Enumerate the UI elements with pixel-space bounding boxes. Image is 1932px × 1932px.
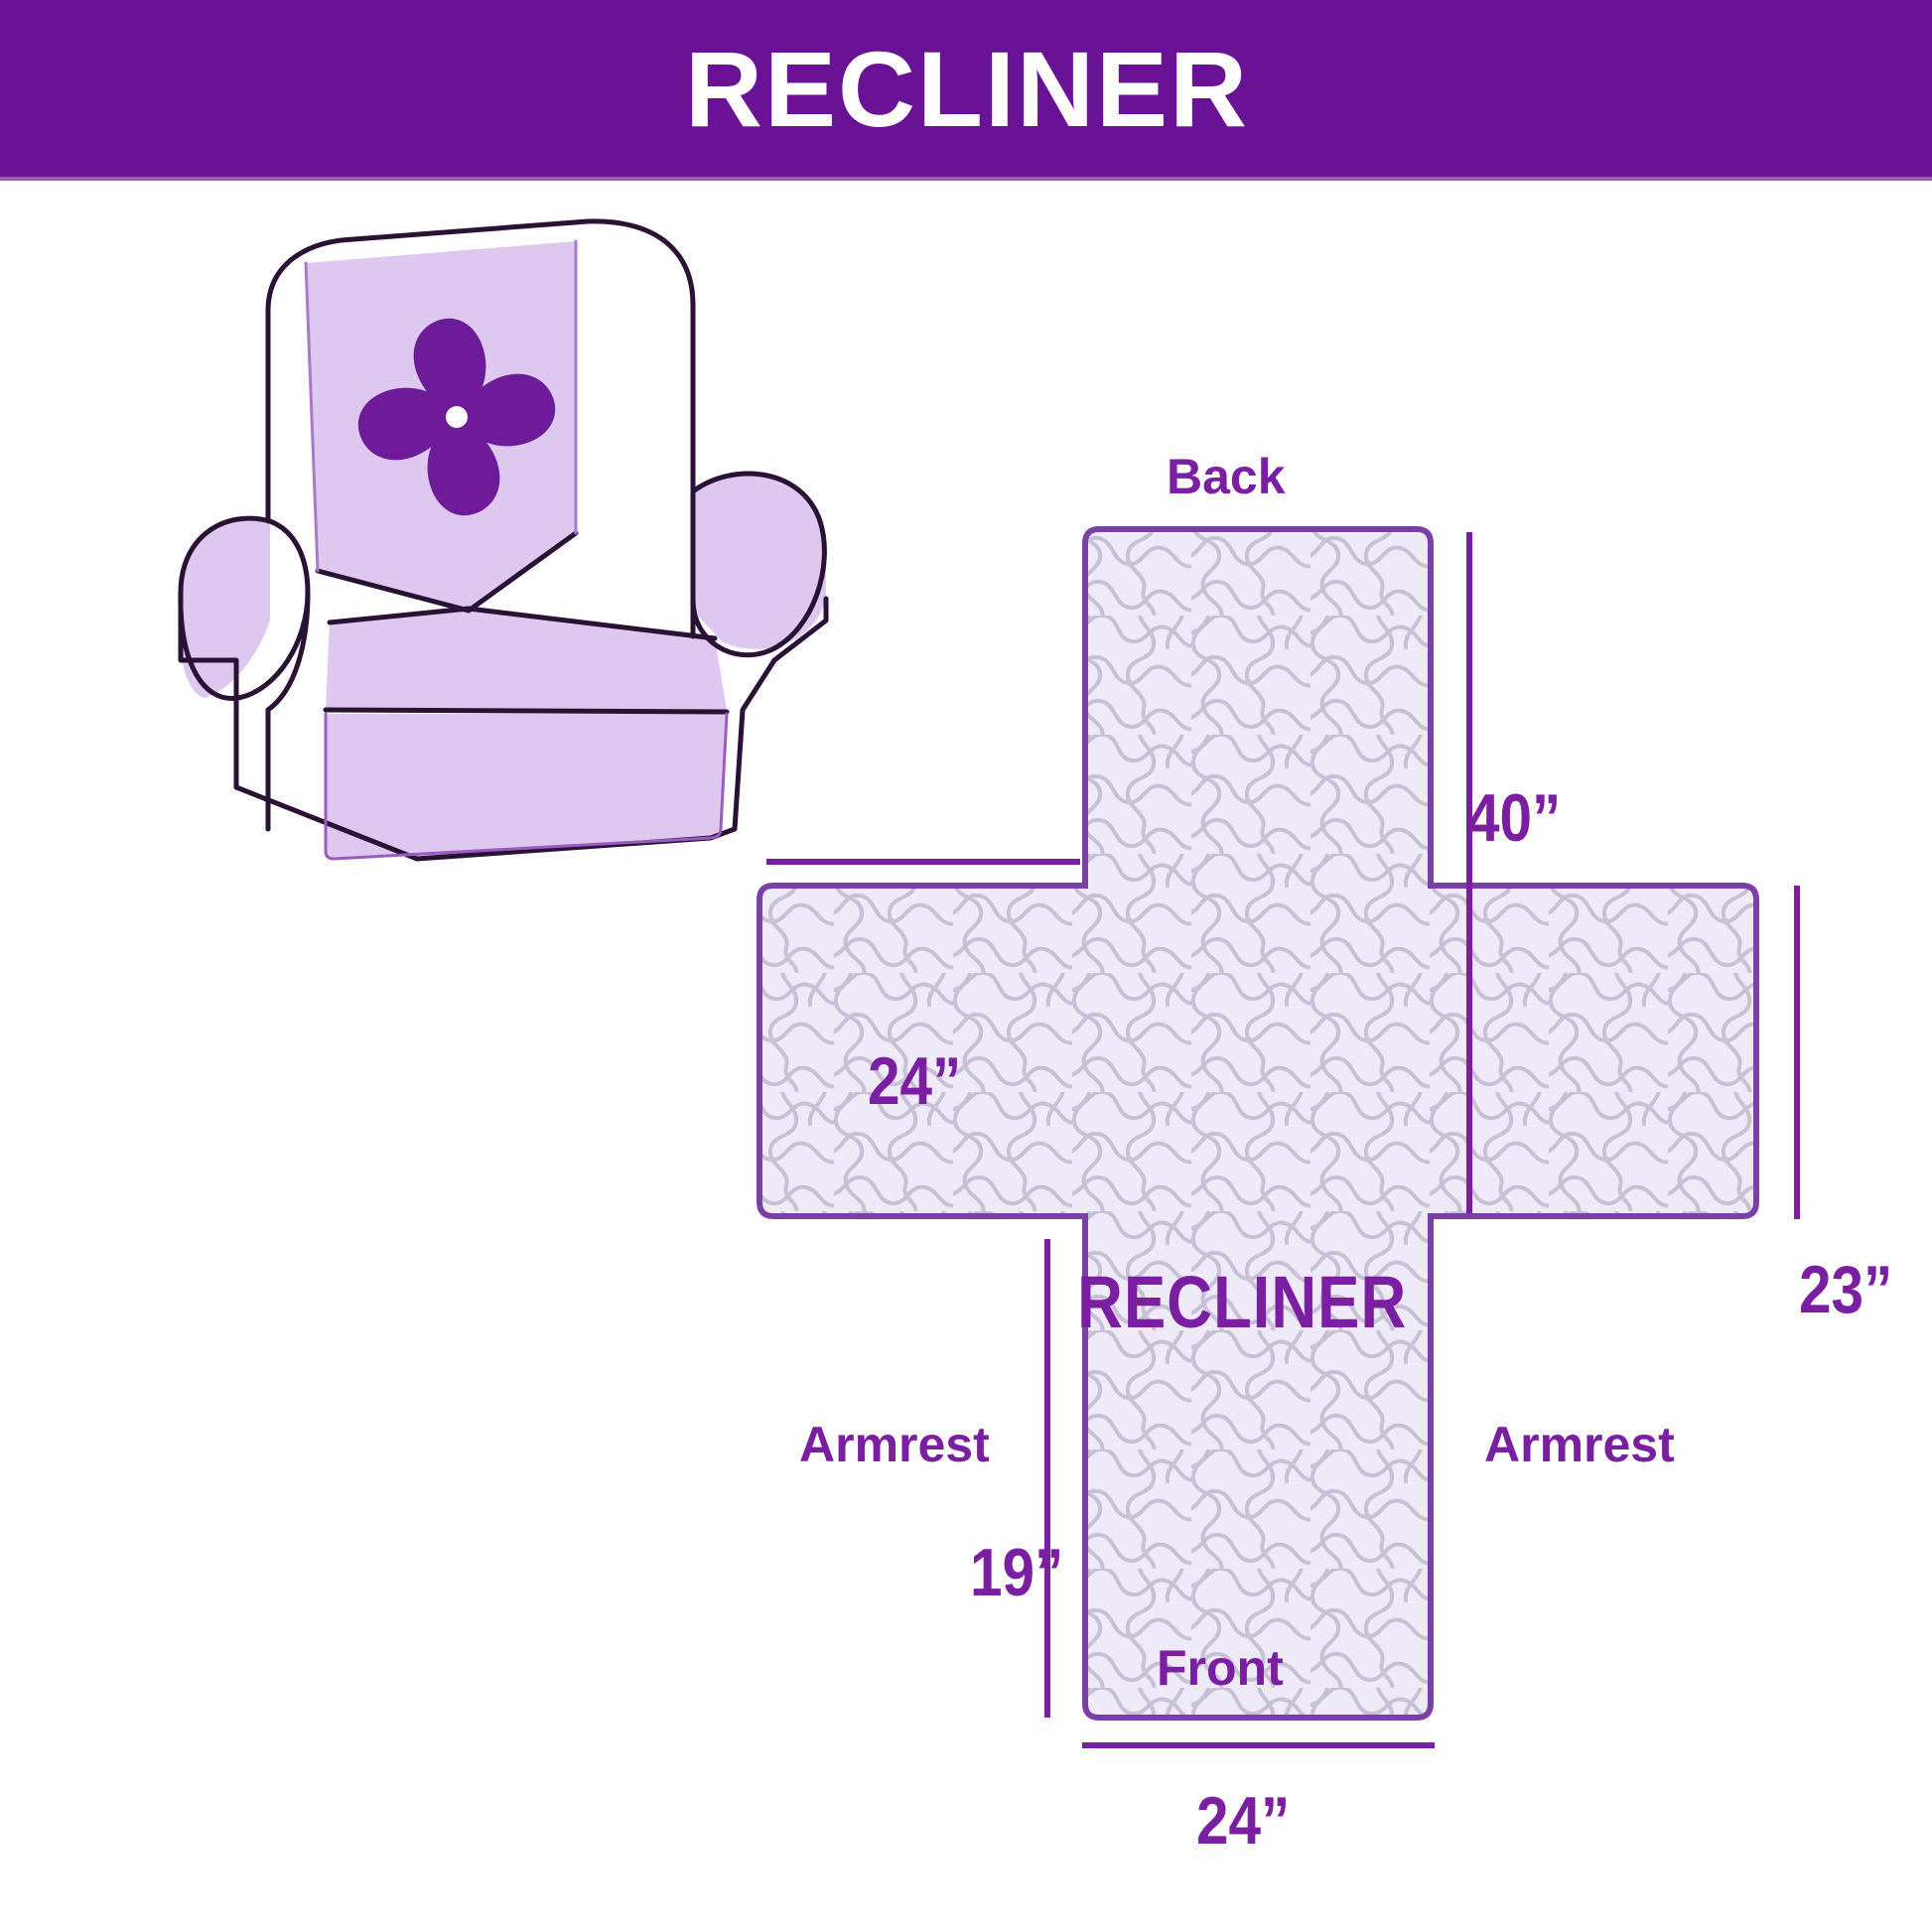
product-label-center: RECLINER (1077, 1266, 1407, 1339)
cover-layout-diagram (596, 496, 1932, 1787)
cover-cross-shape (759, 529, 1756, 1718)
dimension-front-width: 24” (1196, 1787, 1290, 1855)
dimension-seat-height: 23” (1799, 1256, 1892, 1323)
dimension-front-height: 19” (970, 1539, 1063, 1606)
dimension-back-height: 40” (1467, 784, 1561, 852)
panel-label-armrest-left: Armrest (799, 1420, 990, 1469)
header-banner: RECLINER (0, 0, 1932, 179)
dimension-armrest-top-width: 24” (868, 1047, 961, 1115)
panel-label-front: Front (1157, 1643, 1284, 1693)
banner-underline (0, 177, 1932, 181)
panel-label-back: Back (1167, 452, 1286, 501)
panel-label-armrest-right: Armrest (1484, 1420, 1675, 1469)
page-title: RECLINER (685, 36, 1249, 143)
